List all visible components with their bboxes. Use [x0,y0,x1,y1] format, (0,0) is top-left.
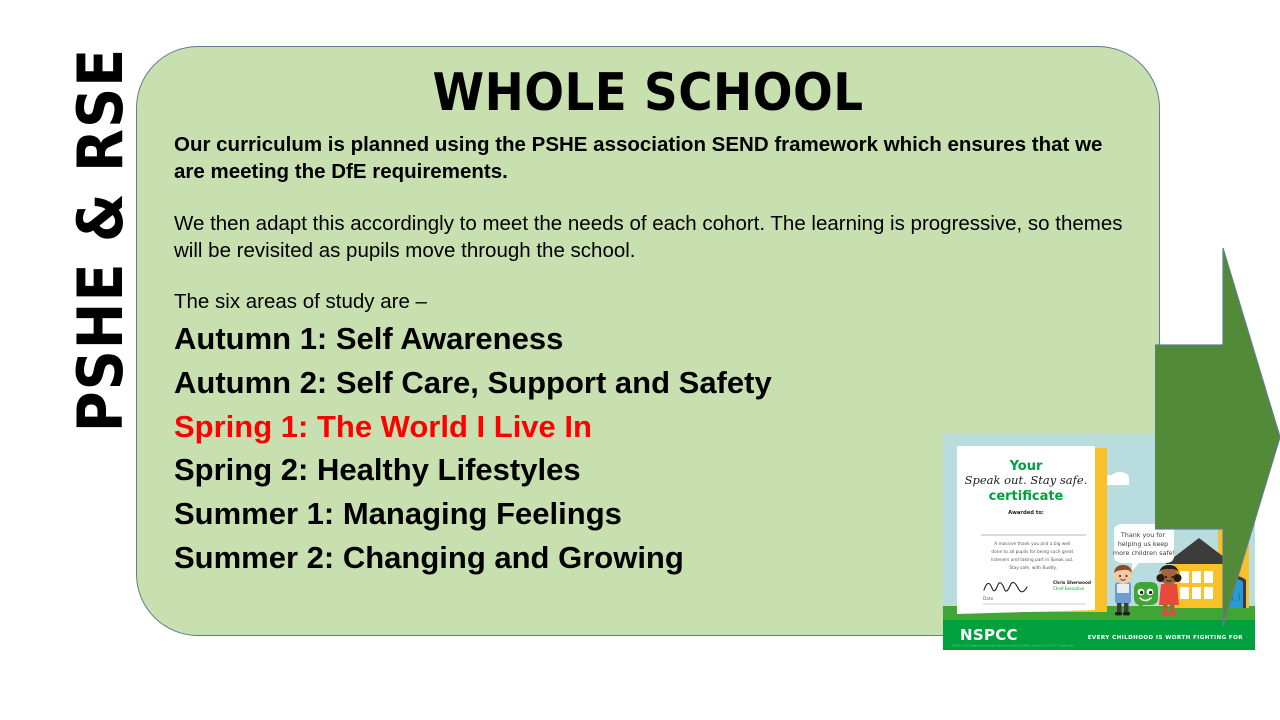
list-item: Autumn 1: Self Awareness [174,317,1126,361]
svg-text:Date: Date [983,596,994,602]
panel-title: WHOLE SCHOOL [137,63,1159,123]
svg-text:certificate: certificate [989,489,1064,504]
list-intro-text: The six areas of study are – [174,288,1126,315]
content-panel: WHOLE SCHOOL Our curriculum is planned u… [136,46,1160,636]
next-section-arrow-icon[interactable] [1155,248,1280,626]
list-item: Autumn 2: Self Care, Support and Safety [174,361,1126,405]
vertical-subject-label: PSHE & RSE [55,45,145,435]
svg-text:NSPCC: NSPCC [960,626,1018,644]
svg-text:EVERY CHILDHOOD IS WORTH FIGHT: EVERY CHILDHOOD IS WORTH FIGHTING FOR [1088,635,1244,641]
svg-text:Chief Executive: Chief Executive [1053,586,1085,591]
intro-paragraph-1: Our curriculum is planned using the PSHE… [174,131,1126,186]
svg-text:Awarded to:: Awarded to: [1008,510,1044,516]
intro-paragraph-2: We then adapt this accordingly to meet t… [174,210,1126,265]
svg-text:Your: Your [1009,459,1043,474]
svg-text:©NSPCC 2021 Registered charity: ©NSPCC 2021 Registered charity England a… [951,644,1074,648]
svg-text:Speak out. Stay safe.: Speak out. Stay safe. [965,473,1088,487]
